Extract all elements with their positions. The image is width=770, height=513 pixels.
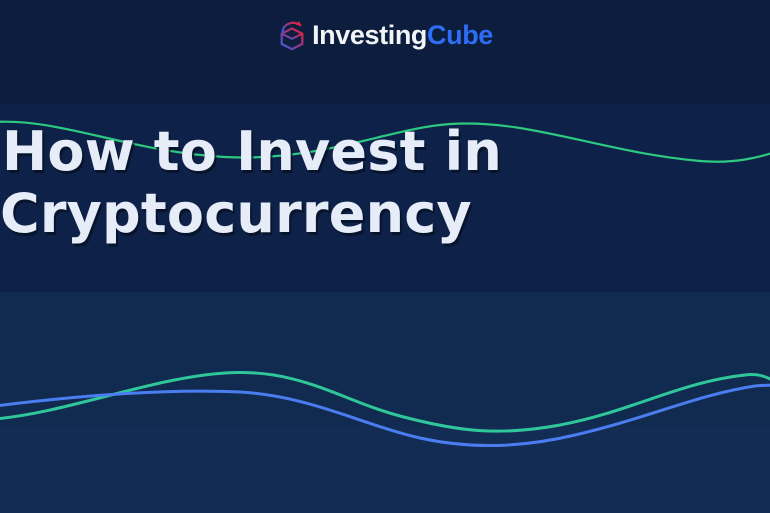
bottom-teal-wave-path bbox=[0, 372, 770, 431]
site-logo[interactable]: InvestingCube bbox=[277, 20, 493, 51]
headline-line-2: Cryptocurrency bbox=[0, 183, 600, 245]
cube-arrow-logo-icon bbox=[277, 20, 307, 51]
logo-word-investing: Investing bbox=[312, 20, 427, 50]
decorative-wave-lines bbox=[0, 0, 770, 513]
logo-word-cube: Cube bbox=[427, 20, 493, 50]
bottom-blue-wave-path bbox=[0, 385, 770, 445]
headline-line-1: How to Invest in bbox=[0, 121, 600, 183]
hero-banner: InvestingCube How to Invest in Cryptocur… bbox=[0, 0, 770, 513]
page-title: How to Invest in Cryptocurrency bbox=[0, 121, 600, 245]
logo-wordmark: InvestingCube bbox=[312, 22, 493, 49]
logo-bar: InvestingCube bbox=[0, 0, 770, 70]
